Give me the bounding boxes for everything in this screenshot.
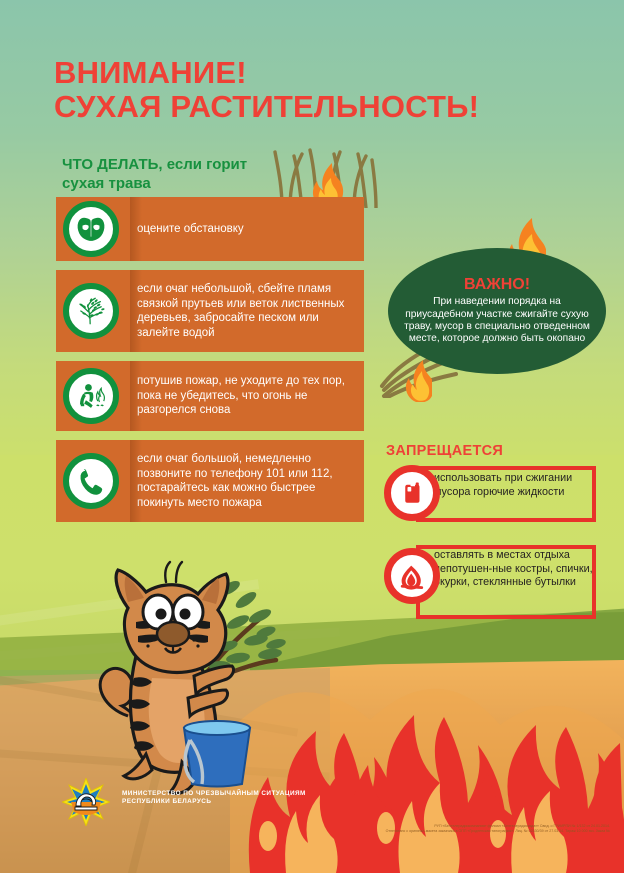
phone-icon	[63, 453, 119, 509]
instruction-step: если очаг большой, немедленно позвоните …	[56, 440, 364, 522]
instruction-step: потушив пожар, не уходите до тех пор, по…	[56, 361, 364, 431]
ministry-name: МИНИСТЕРСТВО ПО ЧРЕЗВЫЧАЙНЫМ СИТУАЦИЯМ Р…	[122, 790, 352, 807]
step-icon-wrap	[59, 449, 123, 513]
bar-fold-shadow	[130, 270, 142, 352]
mask-eyes-icon	[63, 201, 119, 257]
step-text: если очаг небольшой, сбейте пламя связко…	[123, 276, 364, 346]
instruction-step: если очаг небольшой, сбейте пламя связко…	[56, 270, 364, 352]
mchs-belarus-star-logo	[62, 778, 110, 826]
step-icon-wrap	[59, 279, 123, 343]
instruction-step: оцените обстановку	[56, 197, 364, 261]
important-title: ВАЖНО!	[464, 276, 530, 294]
title-line-1: ВНИМАНИЕ!	[54, 56, 574, 90]
ministry-line-2: РЕСПУБЛИКИ БЕЛАРУСЬ	[122, 798, 352, 806]
bar-fold-shadow	[130, 197, 142, 261]
person-beating-fire-icon	[63, 368, 119, 424]
tree-branch-icon	[63, 283, 119, 339]
forbidden-text: использовать при сжигании мусора горючие…	[434, 472, 594, 499]
flame-icon-bottom	[400, 360, 432, 402]
fineprint: РУП «Белтелерадиокомпания» филиал «Белте…	[170, 824, 610, 834]
forbidden-text: оставлять в местах отдыха непотушен-ные …	[434, 549, 594, 590]
poster-title: ВНИМАНИЕ! СУХАЯ РАСТИТЕЛЬНОСТЬ!	[54, 56, 574, 124]
bar-fold-shadow	[130, 440, 142, 522]
instructions-list: оцените обстановку	[56, 197, 364, 531]
bar-fold-shadow	[130, 361, 142, 431]
step-icon-wrap	[59, 197, 123, 261]
fuel-canister-icon	[384, 465, 440, 521]
step-text: потушив пожар, не уходите до тех пор, по…	[123, 368, 364, 424]
fineprint-line-2: Отпечатано с оригинал-макета заказчика в…	[170, 829, 610, 834]
forbidden-title: ЗАПРЕЩАЕТСЯ	[386, 443, 503, 459]
title-line-2: СУХАЯ РАСТИТЕЛЬНОСТЬ!	[54, 90, 574, 124]
step-icon-wrap	[59, 364, 123, 428]
step-text: если очаг большой, немедленно позвоните …	[123, 446, 364, 516]
important-body: При наведении порядка на приусадебном уч…	[388, 296, 606, 346]
important-callout: ВАЖНО! При наведении порядка на приусаде…	[388, 248, 606, 374]
ministry-line-1: МИНИСТЕРСТВО ПО ЧРЕЗВЫЧАЙНЫМ СИТУАЦИЯМ	[122, 790, 352, 798]
poster-canvas: ВНИМАНИЕ! СУХАЯ РАСТИТЕЛЬНОСТЬ! ЧТО ДЕЛА…	[0, 0, 624, 873]
burning-match-icon	[384, 548, 440, 604]
step-text: оцените обстановку	[123, 216, 254, 243]
blue-water-bucket-icon	[178, 718, 256, 788]
